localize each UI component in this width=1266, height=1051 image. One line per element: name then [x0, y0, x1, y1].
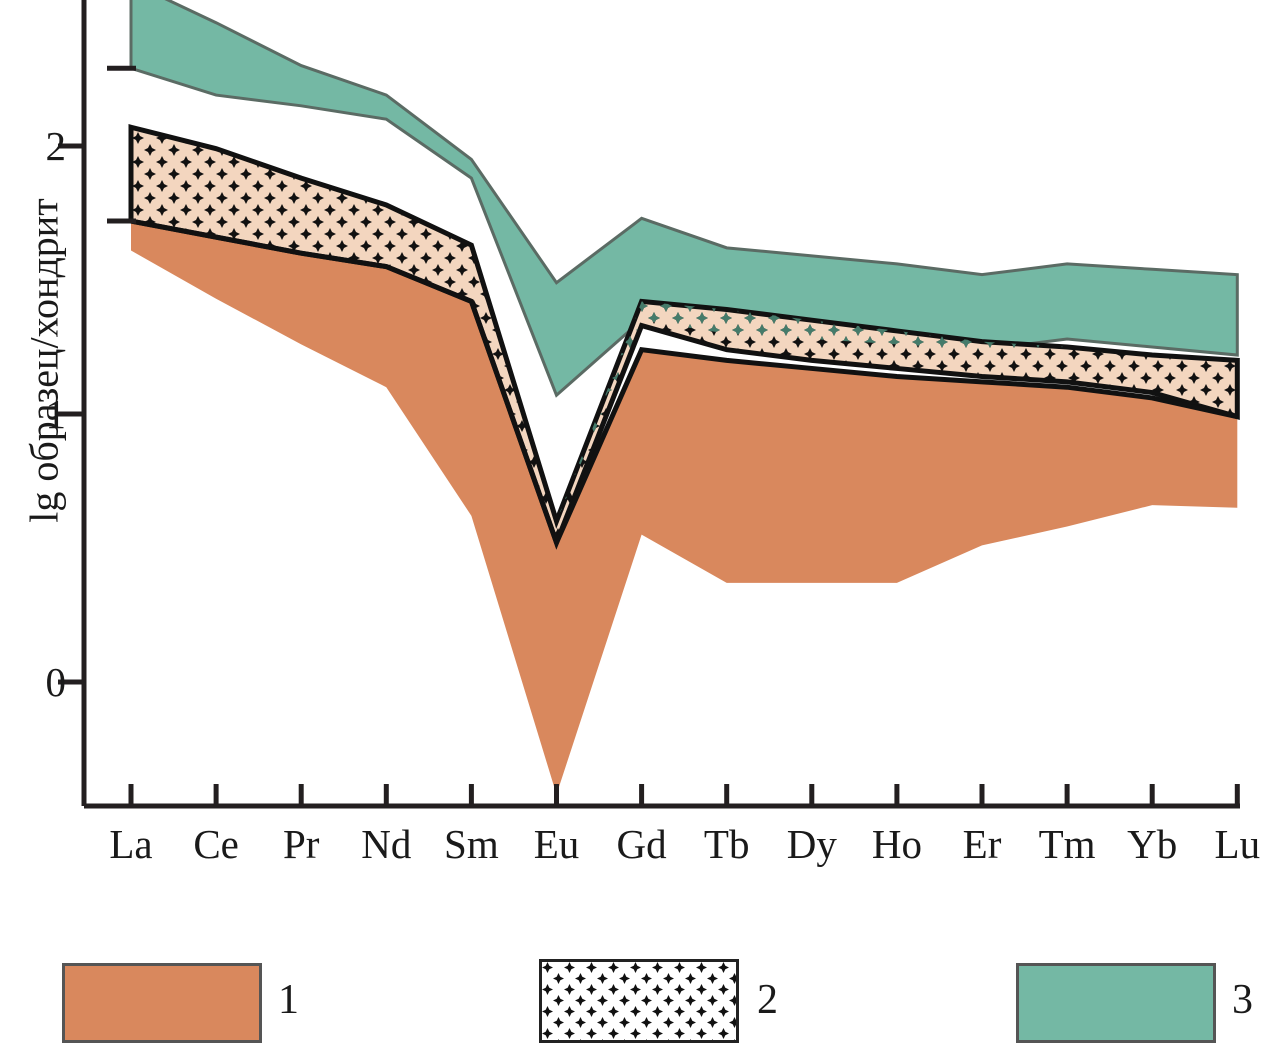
x-tick-label-la: La [109, 820, 152, 868]
x-tick-label-pr: Pr [283, 820, 319, 868]
y-axis-title: lg образец/хондрит [21, 151, 68, 571]
x-tick-label-tm: Tm [1039, 820, 1096, 868]
x-tick-label-eu: Eu [534, 820, 580, 868]
x-tick-label-lu: Lu [1215, 820, 1261, 868]
y-axis [58, 0, 136, 806]
x-tick-label-er: Er [963, 820, 1002, 868]
x-tick-label-yb: Yb [1127, 820, 1177, 868]
x-axis [84, 784, 1240, 806]
legend-swatch-1 [62, 963, 262, 1043]
rare-earth-spider-chart: lg образец/хондрит 210 LaCePrNdSmEuGdTbD… [0, 0, 1266, 1051]
legend-label-2: 2 [757, 976, 778, 1024]
x-tick-label-nd: Nd [361, 820, 411, 868]
x-tick-label-tb: Tb [704, 820, 750, 868]
x-tick-label-sm: Sm [444, 820, 499, 868]
x-tick-label-gd: Gd [617, 820, 667, 868]
plot-area [0, 0, 1266, 1051]
x-tick-label-ho: Ho [872, 820, 922, 868]
x-tick-label-ce: Ce [193, 820, 239, 868]
legend-swatch-2 [539, 959, 739, 1043]
legend-pattern-2 [542, 962, 736, 1040]
x-tick-label-dy: Dy [787, 820, 837, 868]
y-tick-label-1: 1 [14, 390, 66, 438]
legend-swatch-3 [1016, 963, 1216, 1043]
legend-label-1: 1 [278, 976, 299, 1024]
y-tick-label-0: 0 [14, 658, 66, 706]
legend-label-3: 3 [1232, 976, 1253, 1024]
y-tick-label-2: 2 [14, 122, 66, 170]
